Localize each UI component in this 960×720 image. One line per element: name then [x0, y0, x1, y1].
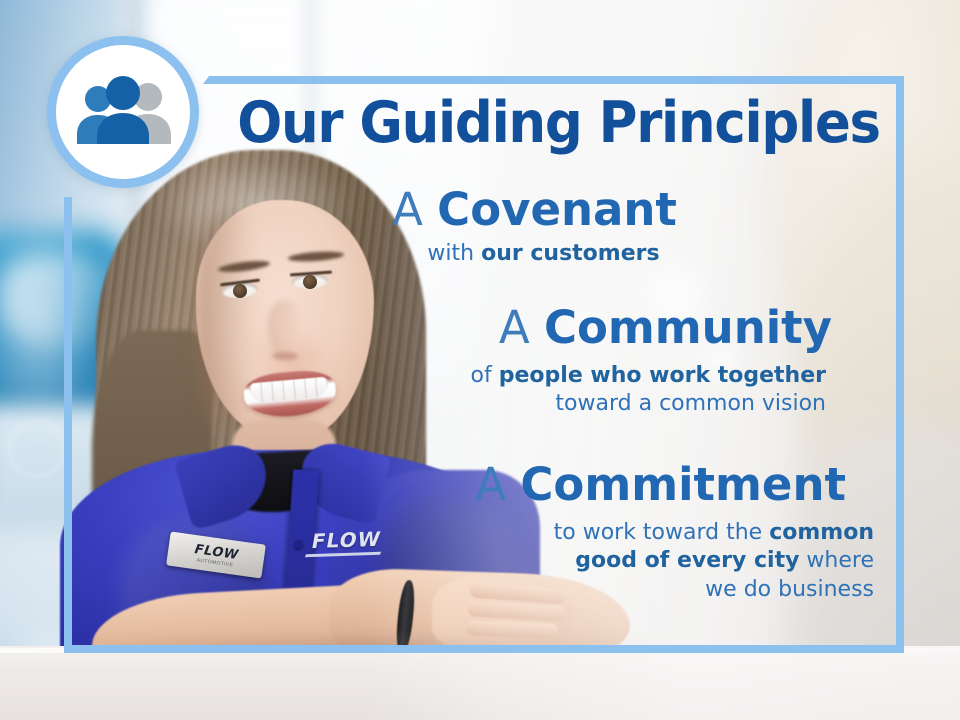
principle-covenant-subtext: with our customers [213, 240, 904, 269]
people-group-icon-badge [47, 36, 199, 188]
principle-community-subline-1: of people who work together [213, 362, 826, 391]
sub-run-bold: people who work together [499, 363, 826, 388]
principle-covenant-word: Covenant [437, 183, 677, 236]
sub-run-bold: common [769, 520, 874, 545]
sub-run: where [799, 548, 874, 573]
sub-run-bold: our customers [481, 241, 660, 266]
principle-community-subtext: of people who work together toward a com… [213, 362, 904, 419]
principle-commitment-subtext: to work toward the common good of every … [213, 519, 904, 605]
sub-run: with [427, 241, 481, 266]
principle-commitment-article: A [475, 458, 506, 511]
principle-community-word: Community [544, 301, 832, 354]
principle-community-subline-2: toward a common vision [213, 390, 826, 419]
principle-commitment-subline-2: good of every city where [213, 547, 874, 576]
sub-run: toward a common vision [555, 391, 826, 416]
guiding-principles-graphic: FLOW AUTOMOTIVE FLOW [0, 0, 960, 720]
people-group-icon [71, 75, 175, 149]
white-table-surface [0, 646, 960, 720]
text-content: Our Guiding Principles A Covenant with o… [213, 76, 904, 653]
principle-covenant-subline-1: with our customers [213, 240, 874, 269]
principle-commitment-title: A Commitment [213, 461, 904, 509]
principle-community-title: A Community [213, 304, 904, 352]
principle-commitment: A Commitment to work toward the common g… [213, 461, 904, 604]
sub-run: we do business [705, 577, 874, 602]
sub-run-bold: good of every city [575, 548, 799, 573]
principle-covenant-article: A [392, 183, 423, 236]
principle-community-article: A [499, 301, 530, 354]
principle-commitment-word: Commitment [520, 458, 846, 511]
sub-run: of [471, 363, 499, 388]
page-title: Our Guiding Principles [237, 94, 880, 152]
principle-covenant-title: A Covenant [213, 186, 904, 234]
principle-commitment-subline-3: we do business [213, 576, 874, 605]
principle-commitment-subline-1: to work toward the common [213, 519, 874, 548]
principle-community: A Community of people who work together … [213, 304, 904, 419]
principle-covenant: A Covenant with our customers [213, 186, 904, 268]
sub-run: to work toward the [554, 520, 770, 545]
